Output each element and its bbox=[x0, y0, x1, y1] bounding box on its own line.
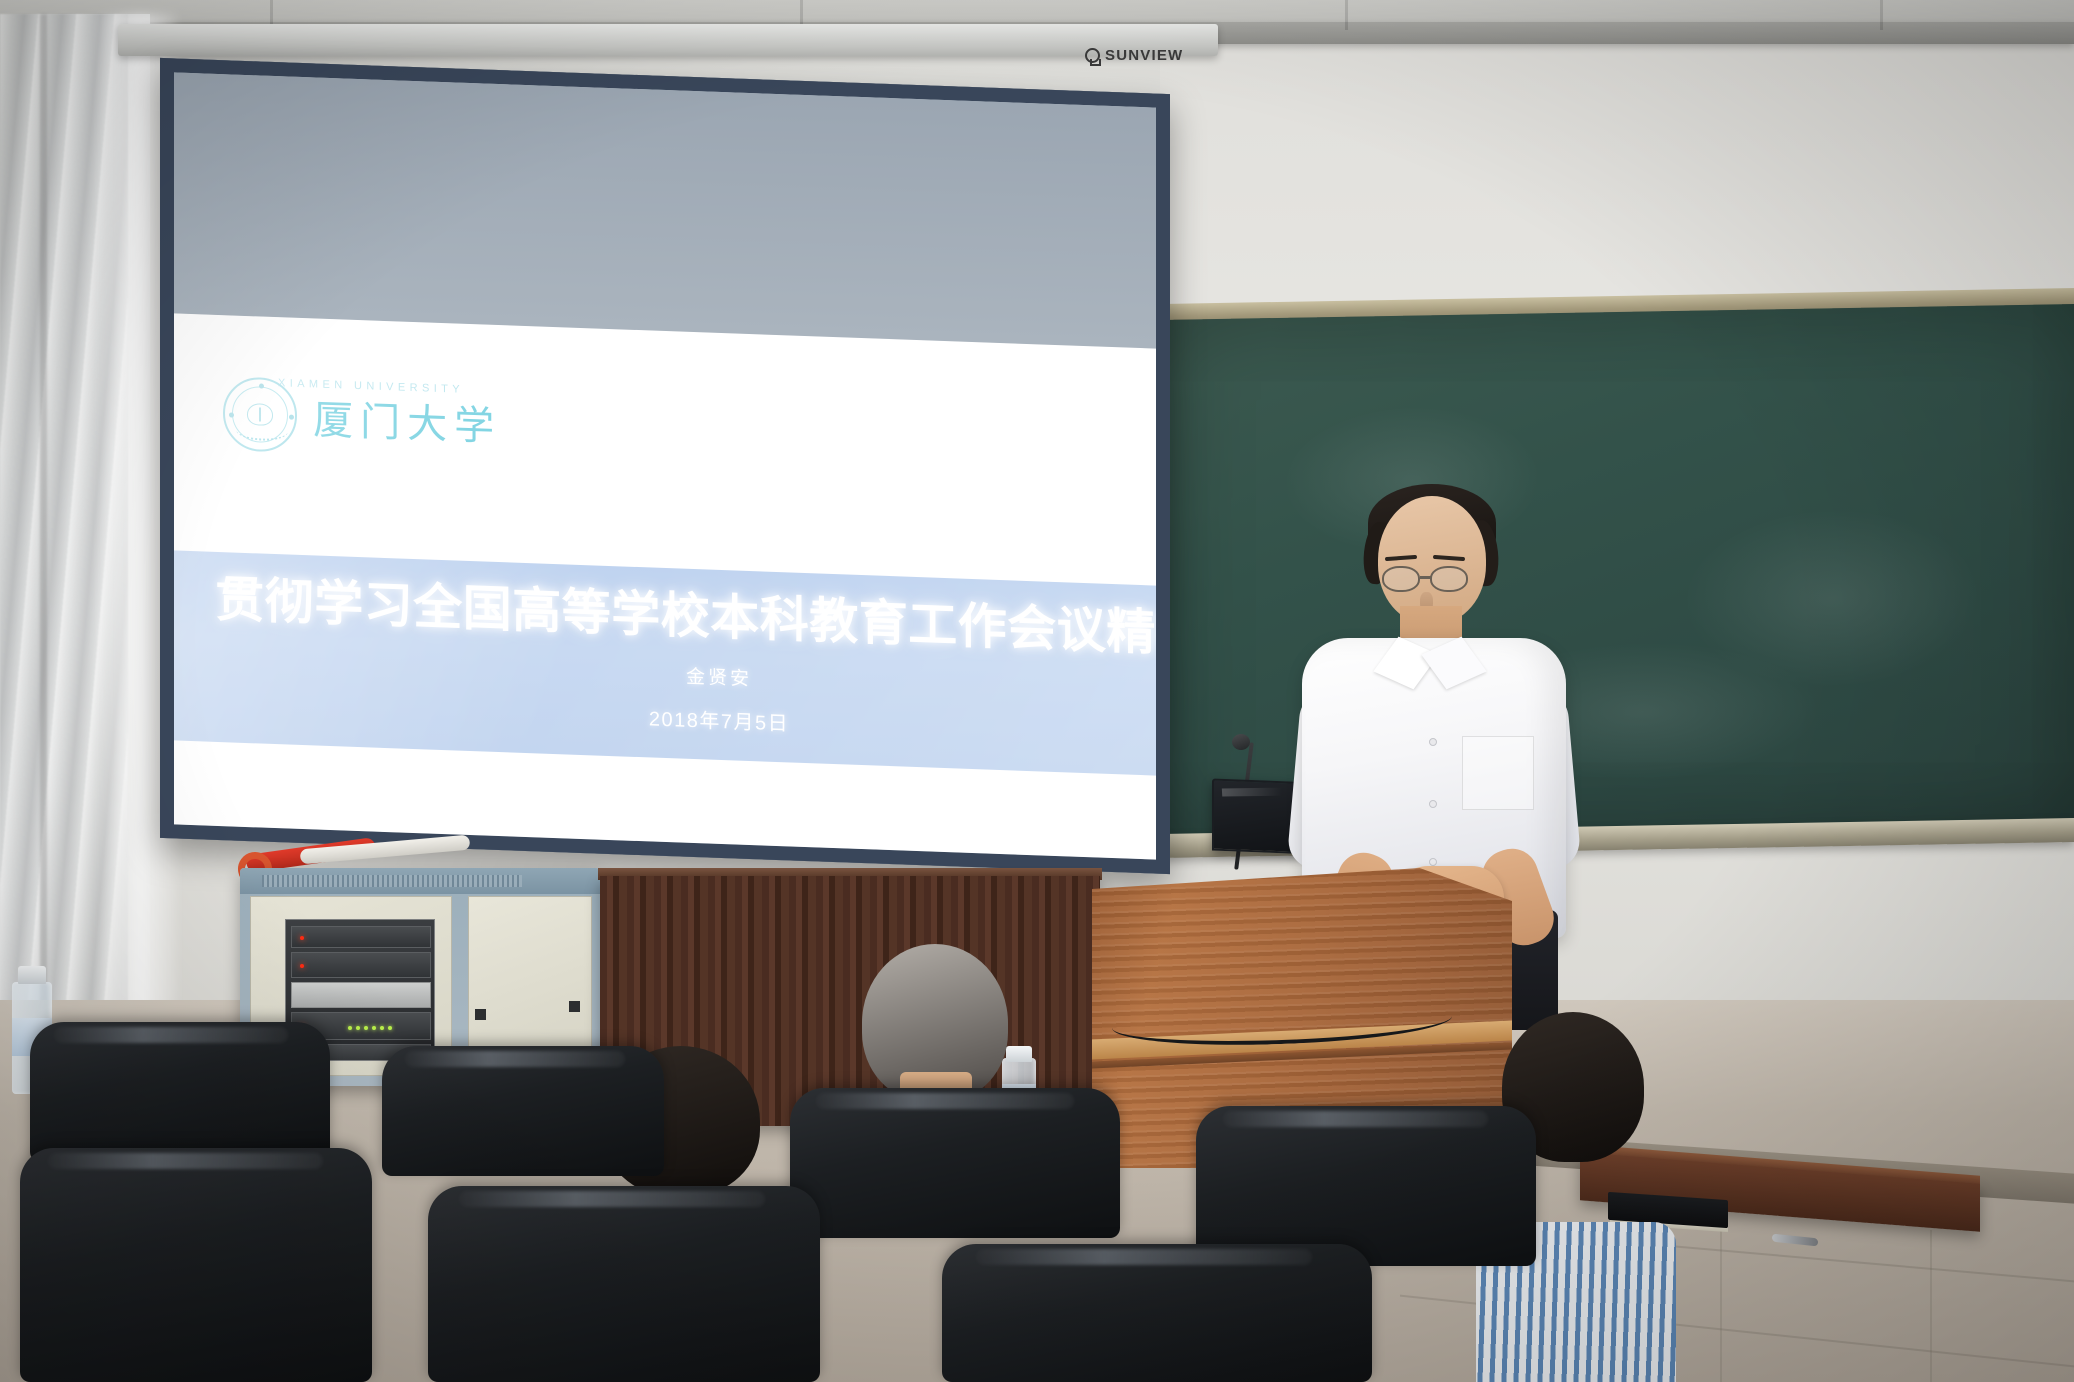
university-name-cn: 厦门大学 bbox=[313, 387, 501, 452]
shirt-pocket bbox=[1462, 736, 1534, 810]
sunview-mark-icon bbox=[1085, 48, 1100, 63]
projector-screen-housing bbox=[118, 24, 1218, 56]
sunview-brand-logo: SUNVIEW bbox=[1085, 47, 1183, 64]
chair-row-mid-center bbox=[790, 1088, 1120, 1238]
lecture-room-photo: SUNVIEW 厦门大学 XIAM bbox=[0, 0, 2074, 1382]
sunview-brand-text: SUNVIEW bbox=[1105, 47, 1183, 64]
window-frame bbox=[40, 14, 47, 1014]
chair-front-center bbox=[428, 1186, 820, 1382]
chair-front-left bbox=[20, 1148, 372, 1382]
slide-title-band: 贯彻学习全国高等学校本科教育工作会议精神 金贤安 2018年7月5日 bbox=[174, 551, 1156, 775]
screen-surface: 厦门大学 XIAMEN UNIVERSITY 贯彻学习全国高等学校本科教育工作会… bbox=[174, 72, 1156, 859]
chair-front-right bbox=[942, 1244, 1372, 1382]
presentation-slide: 厦门大学 XIAMEN UNIVERSITY 贯彻学习全国高等学校本科教育工作会… bbox=[174, 313, 1156, 860]
eyeglasses-left-lens-icon bbox=[1382, 566, 1420, 592]
chair-row-back-left bbox=[30, 1022, 330, 1162]
chair-row-mid-right bbox=[1196, 1106, 1536, 1266]
eyeglasses-right-lens-icon bbox=[1430, 566, 1468, 592]
screen-unlit-area bbox=[174, 72, 1156, 348]
chair-row-back-mid bbox=[382, 1046, 664, 1176]
microphone-head-icon bbox=[1232, 734, 1250, 750]
projection-screen: 厦门大学 XIAMEN UNIVERSITY 贯彻学习全国高等学校本科教育工作会… bbox=[160, 58, 1170, 874]
